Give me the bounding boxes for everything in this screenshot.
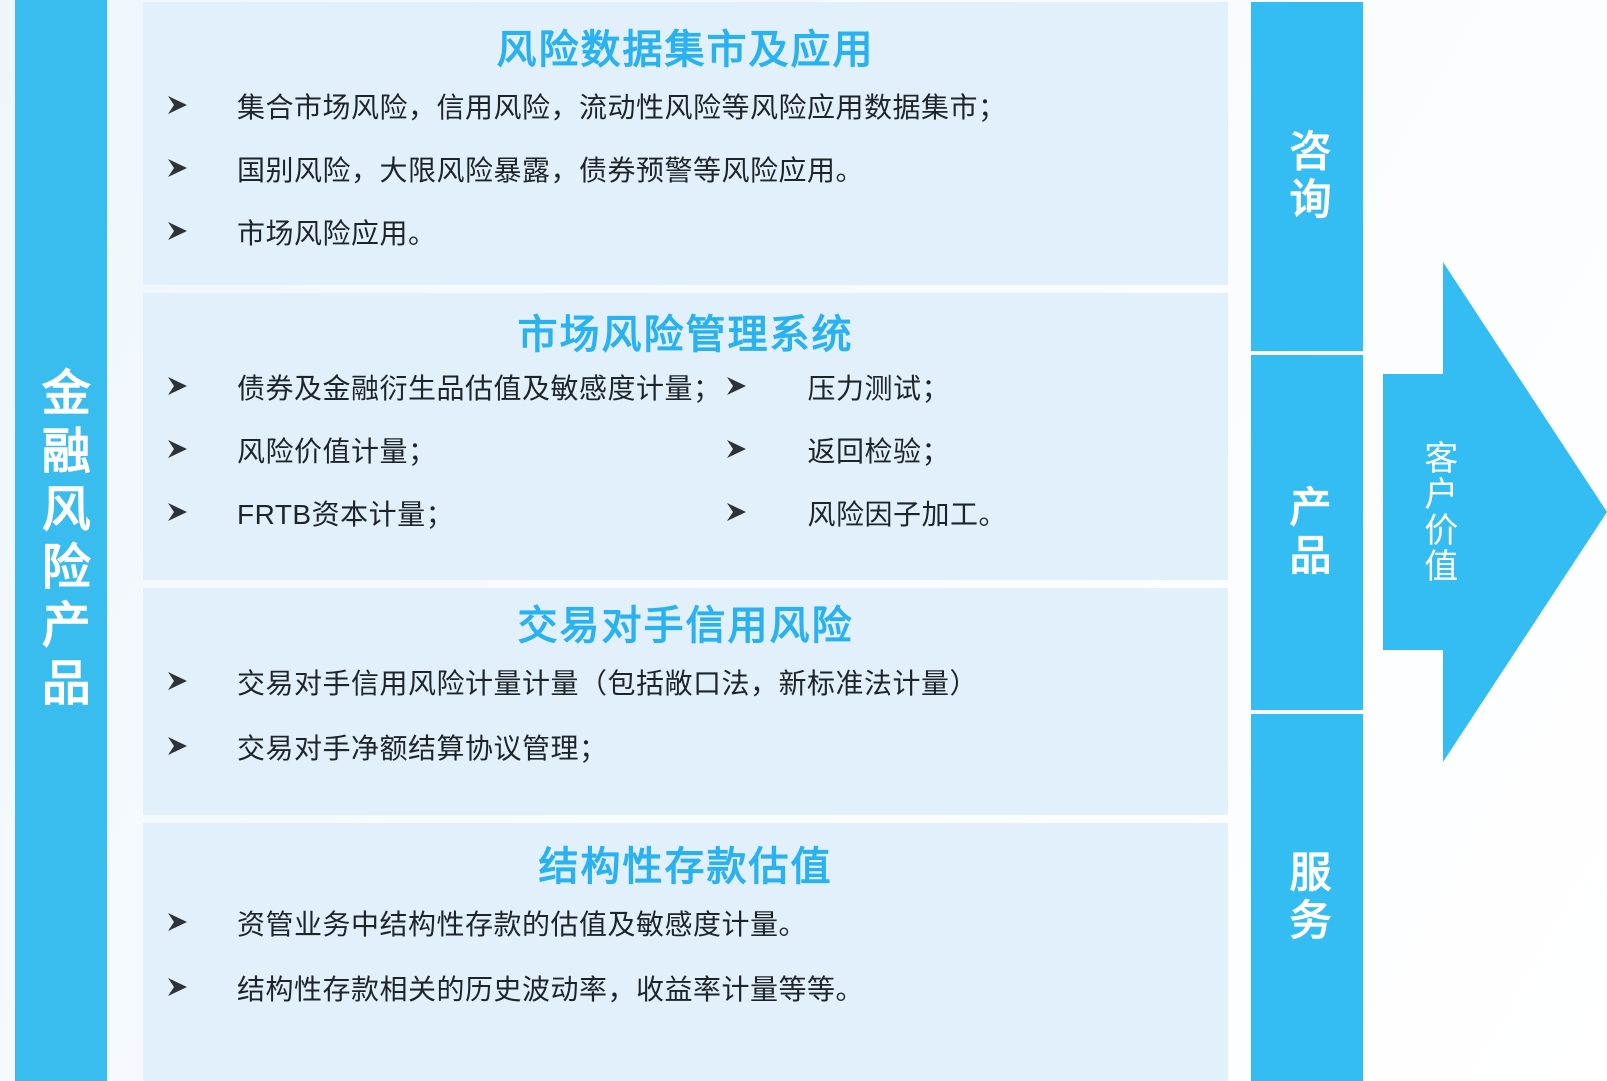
list-item-text: 集合市场风险，信用风险，流动性风险等风险应用数据集市； [237,90,1007,125]
list-item: 结构性存款相关的历史波动率，收益率计量等等。 [143,972,1228,1007]
bullet-list: 资管业务中结构性存款的估值及敏感度计量。 结构性存款相关的历史波动率，收益率计量… [143,907,1228,1007]
left-category-label: 金融风险产品 [35,367,86,715]
stage-block-service[interactable]: 服务 [1251,714,1363,1081]
arrow-bullet-icon [165,92,201,118]
list-item: FRTB资本计量； [143,497,686,532]
bullet-list: 交易对手信用风险计量计量（包括敞口法，新标准法计量） 交易对手净额结算协议管理； [143,666,1228,766]
arrow-bullet-icon [724,373,760,399]
arrow-bullet-icon [165,909,201,935]
section-title: 交易对手信用风险 [143,588,1228,646]
arrow-bullet-icon [165,218,201,244]
list-item: 风险因子加工。 [686,497,1229,532]
list-item: 债券及金融衍生品估值及敏感度计量； [143,371,686,406]
list-item-text: 债券及金融衍生品估值及敏感度计量； [237,371,722,406]
arrow-bullet-icon [165,668,201,694]
service-stage-column: 咨询 产品 服务 [1251,0,1363,1081]
list-item-text: 返回检验； [808,434,951,469]
list-item-text: 资管业务中结构性存款的估值及敏感度计量。 [237,907,807,942]
list-item-text: 交易对手净额结算协议管理； [237,731,608,766]
list-item-text: FRTB资本计量； [237,497,454,532]
list-item: 风险价值计量； [143,434,686,469]
bullet-list: 集合市场风险，信用风险，流动性风险等风险应用数据集市； 国别风险，大限风险暴露，… [143,90,1228,251]
list-item-text: 市场风险应用。 [237,216,437,251]
bullet-column-left: 债券及金融衍生品估值及敏感度计量； 风险价值计量； FRTB资本计量； [143,371,686,560]
section-counterparty-credit-risk: 交易对手信用风险 交易对手信用风险计量计量（包括敞口法，新标准法计量） 交易对手… [143,588,1228,815]
stage-block-label: 咨询 [1285,129,1329,225]
list-item-text: 风险价值计量； [237,434,437,469]
list-item: 交易对手净额结算协议管理； [143,731,1228,766]
arrow-bullet-icon [165,733,201,759]
arrow-bullet-icon [724,436,760,462]
list-item-text: 压力测试； [808,371,951,406]
stage-block-label: 服务 [1285,850,1329,946]
stage-block-product[interactable]: 产品 [1251,355,1363,710]
arrow-bullet-icon [165,499,201,525]
stage-block-label: 产品 [1285,485,1329,581]
customer-value-arrow: 客户价值 [1383,262,1607,762]
arrow-bullet-icon [165,974,201,1000]
list-item: 市场风险应用。 [143,216,1228,251]
content-column: 风险数据集市及应用 集合市场风险，信用风险，流动性风险等风险应用数据集市； 国别… [143,0,1228,1081]
section-title: 风险数据集市及应用 [143,2,1228,70]
arrow-bullet-icon [165,155,201,181]
list-item: 压力测试； [686,371,1229,406]
arrow-right-icon [1383,262,1607,762]
section-structured-deposit-valuation: 结构性存款估值 资管业务中结构性存款的估值及敏感度计量。 结构性存款相关的历史波… [143,823,1228,1081]
section-title: 市场风险管理系统 [143,293,1228,355]
list-item: 资管业务中结构性存款的估值及敏感度计量。 [143,907,1228,942]
left-category-bar: 金融风险产品 [15,0,107,1081]
bullet-list: 债券及金融衍生品估值及敏感度计量； 风险价值计量； FRTB资本计量； [143,371,1228,560]
list-item: 返回检验； [686,434,1229,469]
list-item-text: 交易对手信用风险计量计量（包括敞口法，新标准法计量） [237,666,978,701]
list-item: 交易对手信用风险计量计量（包括敞口法，新标准法计量） [143,666,1228,701]
arrow-bullet-icon [165,436,201,462]
arrow-bullet-icon [724,499,760,525]
section-risk-data-mart: 风险数据集市及应用 集合市场风险，信用风险，流动性风险等风险应用数据集市； 国别… [143,2,1228,285]
list-item-text: 风险因子加工。 [808,497,1008,532]
arrow-bullet-icon [165,373,201,399]
list-item-text: 结构性存款相关的历史波动率，收益率计量等等。 [237,972,864,1007]
list-item: 国别风险，大限风险暴露，债券预警等风险应用。 [143,153,1228,188]
list-item-text: 国别风险，大限风险暴露，债券预警等风险应用。 [237,153,864,188]
list-item: 集合市场风险，信用风险，流动性风险等风险应用数据集市； [143,90,1228,125]
stage-block-consulting[interactable]: 咨询 [1251,2,1363,351]
bullet-column-right: 压力测试； 返回检验； 风险因子加工。 [686,371,1229,560]
section-market-risk-system: 市场风险管理系统 债券及金融衍生品估值及敏感度计量； 风险价值计量； [143,293,1228,580]
section-title: 结构性存款估值 [143,823,1228,887]
slide-canvas: 金融风险产品 风险数据集市及应用 集合市场风险，信用风险，流动性风险等风险应用数… [0,0,1607,1081]
